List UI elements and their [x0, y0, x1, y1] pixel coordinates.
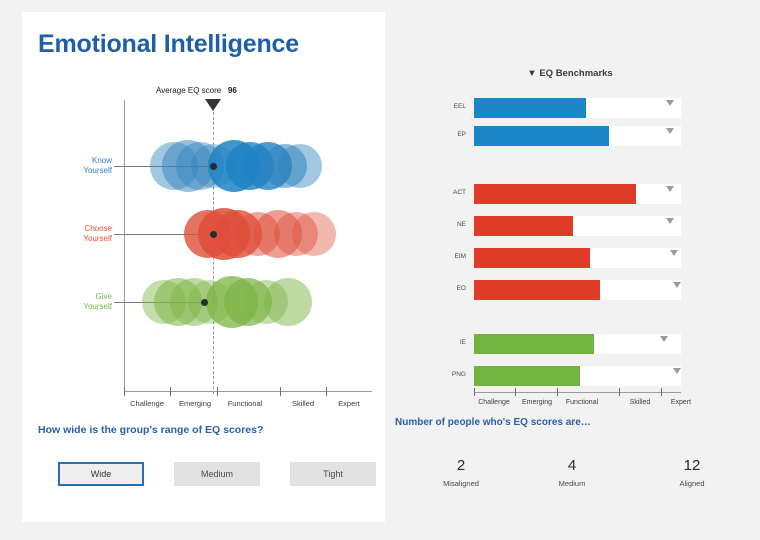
category-label-line2: Yourself: [83, 234, 112, 243]
bar-fill-ne: [474, 216, 573, 236]
range-question-text: How wide is the group's range of EQ scor…: [38, 424, 263, 436]
stat-value: 4: [526, 457, 618, 474]
category-label-line2: Yourself: [83, 302, 112, 311]
benchmarks-x-axis: [474, 392, 681, 393]
x-axis-label-emerging: Emerging: [168, 399, 222, 408]
bar-fill-ie: [474, 334, 594, 354]
stat-label: Aligned: [646, 479, 738, 488]
stat-value: 12: [646, 457, 738, 474]
stat-value: 2: [415, 457, 507, 474]
benchmark-marker-icon: [673, 368, 681, 374]
bar-fill-eim: [474, 248, 590, 268]
benchmark-marker-icon: [666, 100, 674, 106]
stat-label: Medium: [526, 479, 618, 488]
option-tight[interactable]: Tight: [290, 462, 376, 486]
bar-label-png: PNG: [452, 371, 466, 378]
category-label-line1: Give: [96, 292, 112, 301]
bar-label-act: ACT: [453, 189, 466, 196]
option-wide[interactable]: Wide: [58, 462, 144, 486]
benchmark-marker-icon: [666, 186, 674, 192]
benchmarks-x-label-emerging: Emerging: [514, 399, 560, 406]
category-label-know-yourself: Know Yourself: [68, 156, 112, 176]
eq-overview-card: Emotional Intelligence Average EQ score …: [22, 12, 385, 522]
bar-fill-ep: [474, 126, 609, 146]
row-mean-dot-choose: [210, 231, 217, 238]
category-label-give-yourself: Give Yourself: [68, 292, 112, 312]
stats-question-text: Number of people who's EQ scores are…: [395, 417, 591, 428]
average-eq-text: Average EQ score: [156, 86, 221, 95]
eq-distribution-chart: Average EQ score 96 Know Yourself: [58, 90, 374, 402]
x-axis-label-challenge: Challenge: [120, 399, 174, 408]
category-label-line1: Know: [92, 156, 112, 165]
bar-label-eim: EIM: [454, 253, 466, 260]
average-eq-value: 96: [228, 86, 237, 95]
category-label-choose-yourself: Choose Yourself: [68, 224, 112, 244]
benchmarks-x-label-skilled: Skilled: [617, 399, 663, 406]
category-label-line2: Yourself: [83, 166, 112, 175]
page-title: Emotional Intelligence: [38, 30, 299, 59]
bar-label-eo: EO: [457, 285, 466, 292]
option-medium[interactable]: Medium: [174, 462, 260, 486]
row-mean-dot-give: [201, 299, 208, 306]
bar-label-eel: EEL: [454, 103, 466, 110]
bar-label-ie: IE: [460, 339, 466, 346]
benchmark-marker-icon: [670, 250, 678, 256]
benchmarks-x-label-challenge: Challenge: [471, 399, 517, 406]
x-axis-label-functional: Functional: [218, 399, 272, 408]
stat-aligned: 12 Aligned: [646, 457, 738, 488]
x-axis-label-expert: Expert: [322, 399, 376, 408]
eq-benchmarks-panel: ▼ EQ Benchmarks EEL EP ACT: [395, 12, 745, 522]
benchmark-marker-icon: [673, 282, 681, 288]
benchmark-marker-icon: [666, 128, 674, 134]
bar-label-ep: EP: [457, 131, 466, 138]
benchmarks-x-label-expert: Expert: [658, 399, 704, 406]
row-mean-dot-know: [210, 163, 217, 170]
app-root: Emotional Intelligence Average EQ score …: [0, 0, 760, 540]
chart-x-axis: [124, 391, 372, 392]
category-label-line1: Choose: [84, 224, 112, 233]
benchmark-marker-icon: [660, 336, 668, 342]
stat-label: Misaligned: [415, 479, 507, 488]
bar-fill-eel: [474, 98, 586, 118]
benchmarks-title[interactable]: ▼ EQ Benchmarks: [395, 68, 745, 79]
bar-fill-png: [474, 366, 580, 386]
average-eq-label: Average EQ score 96: [156, 86, 237, 95]
stat-misaligned: 2 Misaligned: [415, 457, 507, 488]
chart-y-axis: [124, 100, 125, 392]
bar-fill-eo: [474, 280, 600, 300]
stat-medium: 4 Medium: [526, 457, 618, 488]
bar-label-ne: NE: [457, 221, 466, 228]
bar-fill-act: [474, 184, 636, 204]
benchmarks-x-label-functional: Functional: [559, 399, 605, 406]
average-eq-caret-icon: [205, 99, 221, 111]
benchmark-marker-icon: [666, 218, 674, 224]
benchmarks-chart: EEL EP ACT NE: [429, 94, 701, 384]
